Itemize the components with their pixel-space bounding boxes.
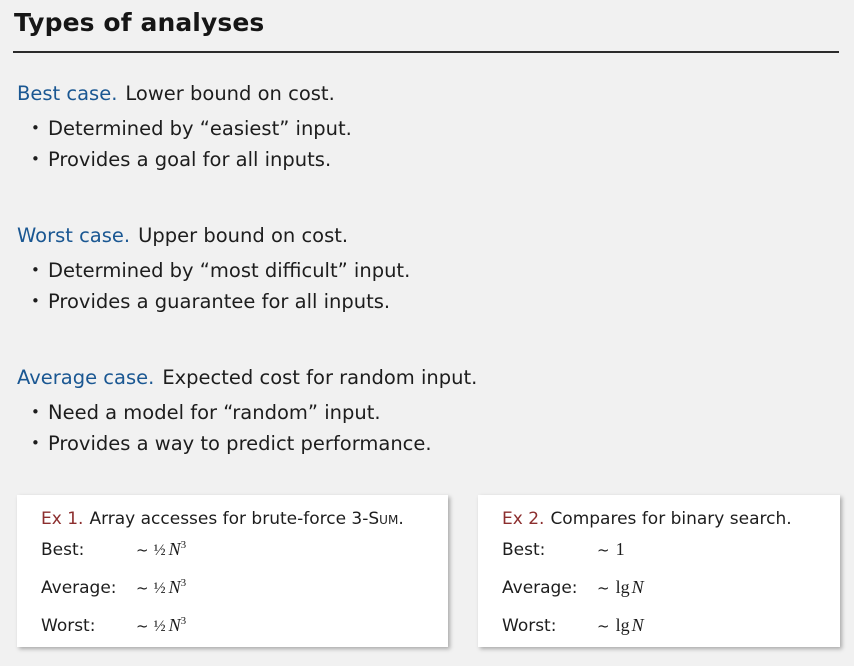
row-value: ~½N3 — [136, 615, 186, 636]
table-row: Best: ~½N3 — [41, 539, 186, 577]
list-item: •Provides a goal for all inputs. — [17, 144, 352, 175]
exponent: 3 — [181, 539, 187, 551]
list-item: •Determined by “easiest” input. — [17, 113, 352, 144]
block-lead: Worst case.Upper bound on cost. — [17, 222, 410, 249]
variable: N — [167, 577, 181, 597]
variable — [625, 539, 627, 559]
bullet-list: •Determined by “easiest” input. •Provide… — [17, 113, 352, 175]
block-lead: Best case.Lower bound on cost. — [17, 80, 352, 107]
row-value: ~lgN — [597, 615, 644, 636]
analysis-block-worst-case: Worst case.Upper bound on cost. •Determi… — [17, 222, 410, 317]
row-label: Worst: — [502, 616, 597, 636]
table-row: Best: ~1 — [502, 539, 644, 577]
row-label: Worst: — [41, 616, 136, 636]
title-divider — [13, 51, 839, 53]
row-label: Best: — [502, 540, 597, 560]
analysis-block-best-case: Best case.Lower bound on cost. •Determin… — [17, 80, 352, 175]
example-heading: Ex 1.Array accesses for brute-force 3-Su… — [41, 508, 404, 530]
fraction: ½ — [154, 580, 166, 597]
variable: N — [630, 577, 644, 597]
variable: N — [167, 615, 181, 635]
example-heading-suffix: . — [398, 509, 403, 529]
list-item-label: Provides a way to predict performance. — [48, 432, 432, 455]
fraction: ½ — [154, 618, 166, 635]
block-keyword: Worst case. — [17, 224, 130, 247]
example-heading-text: Compares for binary search. — [550, 509, 791, 529]
bullet-dot-icon: • — [31, 255, 40, 286]
list-item: •Determined by “most difficult” input. — [17, 255, 410, 286]
list-item-label: Provides a goal for all inputs. — [48, 148, 331, 171]
row-value: ~½N3 — [136, 539, 186, 560]
block-keyword: Average case. — [17, 366, 154, 389]
variable: N — [630, 615, 644, 635]
variable: N — [167, 539, 181, 559]
example-card-2: Ex 2.Compares for binary search. Best: ~… — [478, 495, 840, 647]
tilde-symbol: ~ — [597, 579, 615, 597]
list-item-label: Need a model for “random” input. — [48, 401, 381, 424]
function-name: lg — [615, 615, 630, 635]
table-row: Average: ~½N3 — [41, 577, 186, 615]
block-lead-text: Lower bound on cost. — [125, 82, 334, 105]
list-item: •Provides a way to predict performance. — [17, 428, 477, 459]
block-lead: Average case.Expected cost for random in… — [17, 364, 477, 391]
example-rows: Best: ~1 Average: ~lgN Worst: ~lgN — [502, 539, 644, 653]
table-row: Average: ~lgN — [502, 577, 644, 615]
tilde-symbol: ~ — [597, 541, 615, 559]
bullet-list: •Determined by “most difficult” input. •… — [17, 255, 410, 317]
list-item-label: Determined by “most difficult” input. — [48, 259, 410, 282]
example-heading-text: Array accesses for brute-force 3- — [89, 509, 368, 529]
example-heading: Ex 2.Compares for binary search. — [502, 508, 792, 530]
block-keyword: Best case. — [17, 82, 117, 105]
row-label: Average: — [41, 578, 136, 598]
list-item-label: Provides a guarantee for all inputs. — [48, 290, 390, 313]
table-row: Worst: ~½N3 — [41, 615, 186, 653]
bullet-dot-icon: • — [31, 113, 40, 144]
tilde-symbol: ~ — [136, 579, 154, 597]
row-label: Average: — [502, 578, 597, 598]
tilde-symbol: ~ — [136, 541, 154, 559]
row-value: ~lgN — [597, 577, 644, 598]
list-item-label: Determined by “easiest” input. — [48, 117, 352, 140]
bullet-dot-icon: • — [31, 144, 40, 175]
bullet-dot-icon: • — [31, 428, 40, 459]
tilde-symbol: ~ — [136, 617, 154, 635]
analysis-block-average-case: Average case.Expected cost for random in… — [17, 364, 477, 459]
bullet-dot-icon: • — [31, 286, 40, 317]
row-label: Best: — [41, 540, 136, 560]
example-tag: Ex 2. — [502, 509, 544, 529]
list-item: •Need a model for “random” input. — [17, 397, 477, 428]
row-value: ~1 — [597, 539, 627, 560]
table-row: Worst: ~lgN — [502, 615, 644, 653]
example-heading-smallcaps: Sum — [368, 509, 398, 529]
function-name: 1 — [615, 539, 625, 559]
block-lead-text: Expected cost for random input. — [162, 366, 477, 389]
example-rows: Best: ~½N3 Average: ~½N3 Worst: ~½N3 — [41, 539, 186, 653]
function-name: lg — [615, 577, 630, 597]
list-item: •Provides a guarantee for all inputs. — [17, 286, 410, 317]
example-tag: Ex 1. — [41, 509, 83, 529]
tilde-symbol: ~ — [597, 617, 615, 635]
bullet-dot-icon: • — [31, 397, 40, 428]
exponent: 3 — [181, 577, 187, 589]
exponent: 3 — [181, 615, 187, 627]
block-lead-text: Upper bound on cost. — [138, 224, 348, 247]
bullet-list: •Need a model for “random” input. •Provi… — [17, 397, 477, 459]
page-title: Types of analyses — [14, 6, 264, 40]
row-value: ~½N3 — [136, 577, 186, 598]
example-card-1: Ex 1.Array accesses for brute-force 3-Su… — [17, 495, 448, 647]
fraction: ½ — [154, 542, 166, 559]
